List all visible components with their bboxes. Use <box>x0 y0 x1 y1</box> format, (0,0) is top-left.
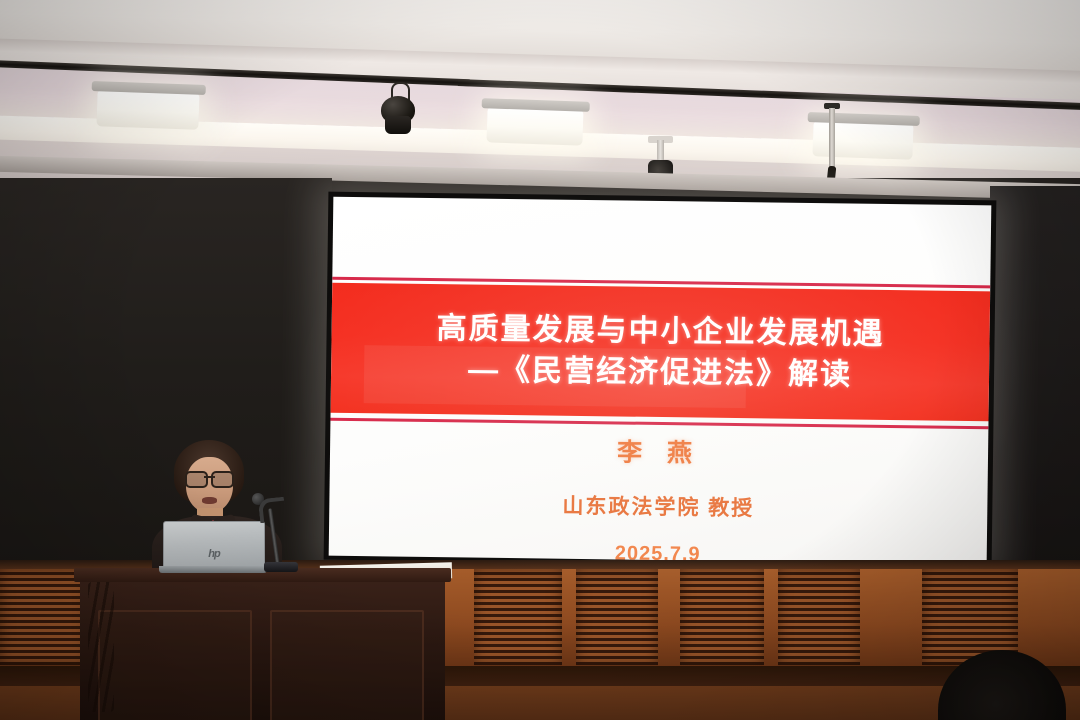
lecture-hall-scene: 高质量发展与中小企业发展机遇 —《民营经济促进法》解读 李 燕 山东政法学院 教… <box>0 0 1080 720</box>
slide-presenter-affiliation: 山东政法学院 教授 <box>562 490 754 523</box>
lectern-podium <box>80 576 445 720</box>
wood-pillar <box>860 569 922 669</box>
slide-title-block: 高质量发展与中小企业发展机遇 —《民营经济促进法》解读 <box>331 285 991 420</box>
slide-title-line-1: 高质量发展与中小企业发展机遇 <box>436 310 884 353</box>
slide-surface: 高质量发展与中小企业发展机遇 —《民营经济促进法》解读 李 燕 山东政法学院 教… <box>329 197 992 565</box>
wood-slat-panel <box>778 569 860 665</box>
ceiling-light-2 <box>486 106 583 145</box>
wood-slat-panel <box>576 569 658 665</box>
wood-slat-panel <box>474 569 562 665</box>
wall-right-dark-section <box>990 186 1080 568</box>
spotlight-barrel <box>385 116 411 134</box>
ceiling-light-1 <box>96 89 199 130</box>
glasses-lens-right <box>211 471 234 488</box>
podium-cables <box>88 582 114 712</box>
microphone-base <box>264 562 298 572</box>
hp-logo-icon: hp <box>208 548 219 560</box>
presenter-mouth <box>202 497 217 504</box>
wood-pillar <box>764 569 778 669</box>
track-spotlight-icon <box>379 88 417 136</box>
projection-screen: 高质量发展与中小企业发展机遇 —《民营经济促进法》解读 李 燕 山东政法学院 教… <box>324 192 997 569</box>
podium-front-panel <box>98 610 252 720</box>
slide-title-line-2: —《民营经济促进法》解读 <box>468 351 852 394</box>
podium-front-panel <box>270 610 424 720</box>
ceiling-hanging-rod <box>827 108 836 186</box>
wood-slat-panel <box>680 569 764 665</box>
gooseneck-microphone-icon <box>246 496 298 574</box>
wood-slat-panel <box>0 569 88 665</box>
slide-subtitle-block: 李 燕 山东政法学院 教授 2025.7.9 <box>329 429 989 565</box>
glasses-icon <box>185 471 234 484</box>
slide-presenter-name: 李 燕 <box>617 432 701 469</box>
glasses-lens-left <box>185 471 208 488</box>
wood-pillar <box>658 569 680 669</box>
wood-pillar <box>562 569 576 669</box>
